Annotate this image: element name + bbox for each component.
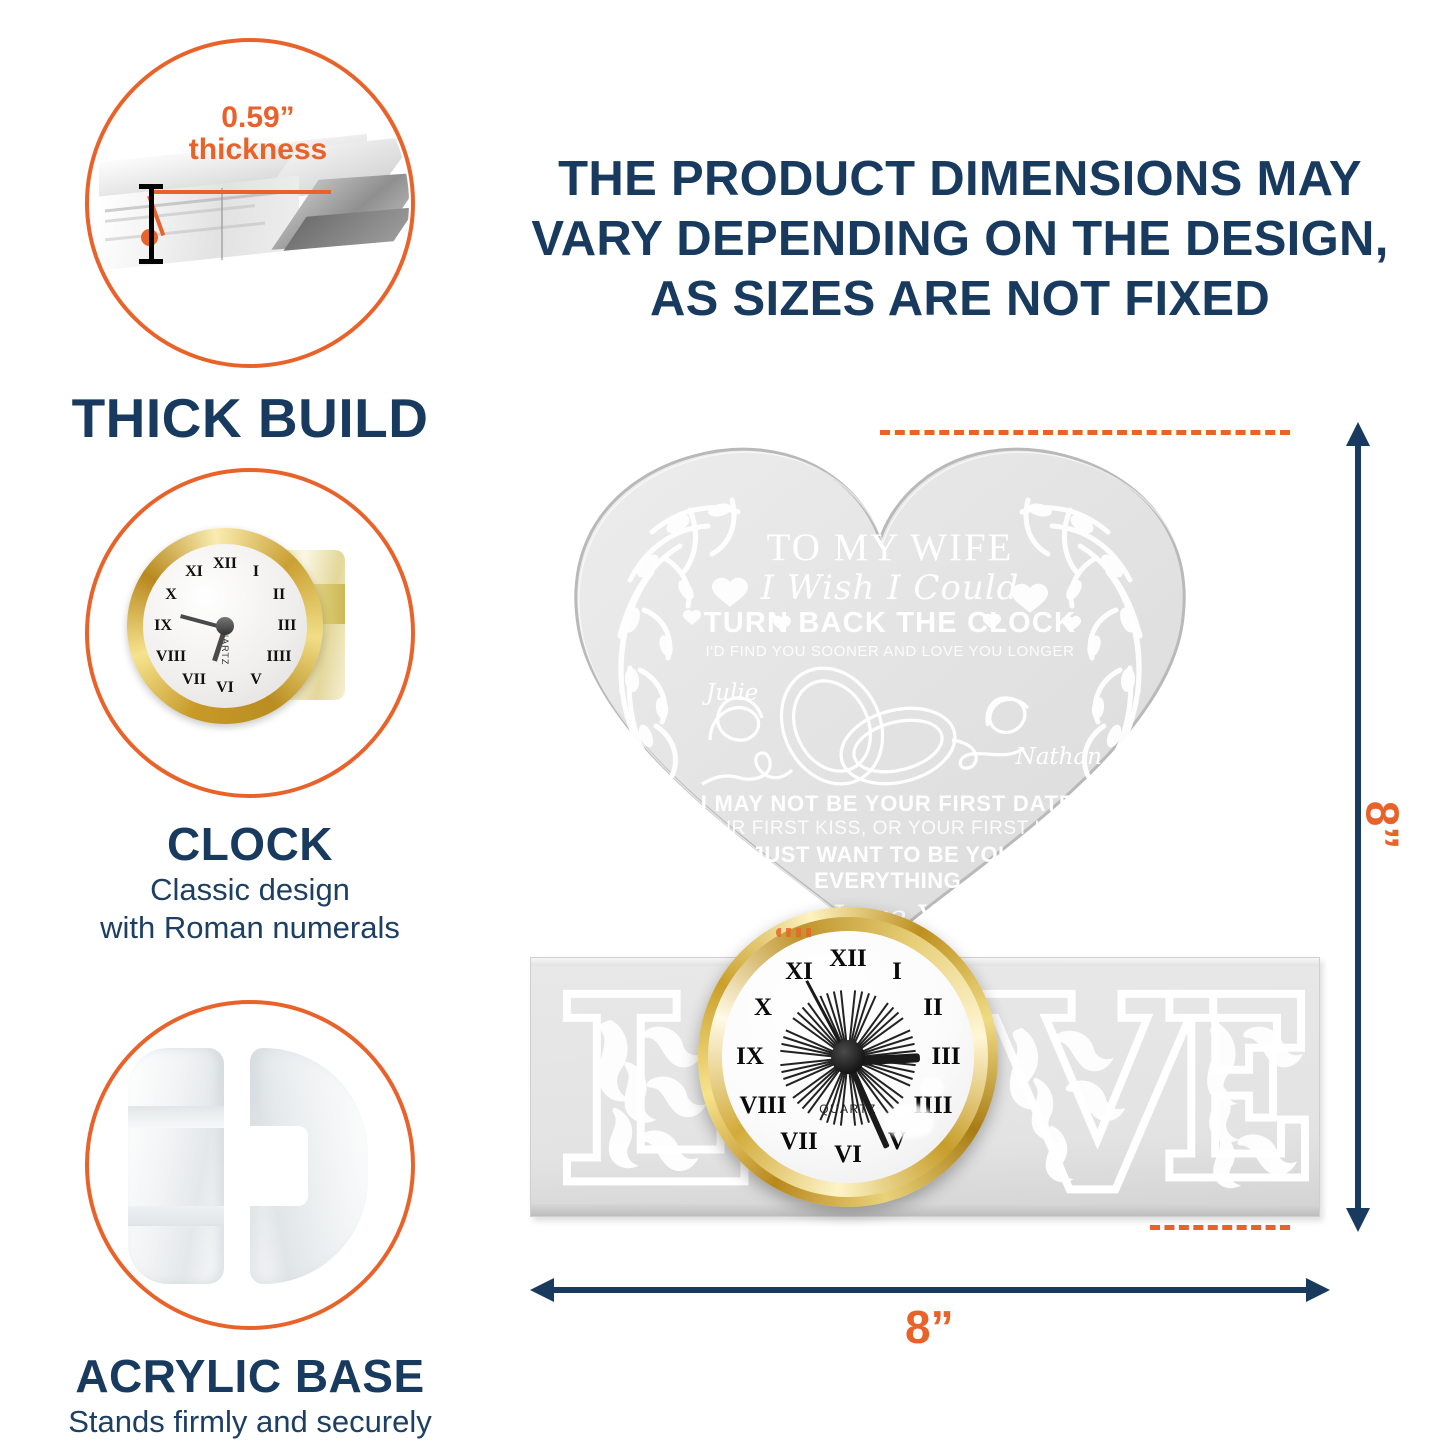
clock-numeral-vii: VII	[780, 1128, 818, 1156]
heart-body-line-1: I MAY NOT BE YOUR FIRST DATE,	[656, 792, 1126, 816]
thickness-callout: 0.59” thickness	[143, 102, 373, 167]
feature-sub-clock-line1: Classic design	[0, 871, 500, 909]
insert-numeral: II	[273, 586, 285, 604]
feature-title-clock: CLOCK	[0, 820, 500, 868]
heart-script-line: I Wish I Could	[680, 571, 1100, 607]
insert-numeral: VIII	[156, 648, 186, 666]
insert-numeral: VII	[182, 671, 206, 689]
page-title: THE PRODUCT DIMENSIONS MAY VARY DEPENDIN…	[520, 150, 1400, 329]
insert-numeral: IIII	[267, 648, 292, 666]
callout-leader-line	[151, 190, 331, 194]
product-illustration: TO MY WIFE I Wish I Could TURN BACK THE …	[520, 420, 1350, 1250]
insert-numeral: V	[250, 671, 262, 689]
insert-numeral: I	[253, 563, 259, 581]
heart-message-top: TO MY WIFE I Wish I Could TURN BACK THE …	[680, 528, 1100, 660]
clock-insert-bezel: XII I II III IIII V VI VII VIII IX X	[127, 528, 323, 724]
clock-glass-glare	[886, 1104, 934, 1138]
feature-title-thick-build: THICK BUILD	[0, 390, 500, 448]
feature-sidebar: 0.59” thickness THICK BUILD XII	[0, 0, 500, 1445]
thickness-measure-bar	[139, 184, 163, 264]
clock-circle: XII I II III IIII V VI VII VIII IX X	[85, 468, 415, 798]
clock-insert-photo: XII I II III IIII V VI VII VIII IX X	[105, 508, 395, 758]
circle-photo: XII I II III IIII V VI VII VIII IX X	[91, 474, 409, 792]
width-dimension-label: 8”	[905, 1300, 954, 1354]
feature-sub-clock-line2: with Roman numerals	[0, 909, 500, 947]
dimension-guide-top	[880, 430, 1290, 435]
feature-clock: XII I II III IIII V VI VII VIII IX X	[0, 468, 500, 947]
clock-numeral-i: I	[892, 958, 902, 986]
clock-numeral-ii: II	[923, 994, 942, 1022]
heart-title: TO MY WIFE	[680, 528, 1100, 567]
letter-E	[1169, 994, 1305, 1178]
height-dimension-label: 8”	[1355, 801, 1409, 850]
header-line-3: AS SIZES ARE NOT FIXED	[520, 270, 1400, 330]
insert-numeral: III	[278, 617, 297, 635]
slab-edge-line	[221, 188, 223, 260]
header-line-2: VARY DEPENDING ON THE DESIGN,	[520, 210, 1400, 270]
insert-numeral: X	[165, 586, 177, 604]
clock-numeral-xii: XII	[829, 945, 867, 973]
acrylic-base-circle	[85, 1000, 415, 1330]
feature-sub-acrylic-base: Stands firmly and securely	[0, 1403, 500, 1441]
measure-cap-bottom	[139, 259, 163, 264]
clock-bezel-speckle	[776, 928, 816, 937]
feature-thick-build: 0.59” thickness THICK BUILD	[0, 38, 500, 448]
insert-numeral: VI	[216, 679, 234, 697]
clock-center-hub	[831, 1040, 865, 1074]
clock-numeral-viii: VIII	[739, 1092, 786, 1120]
heart-body-line-2: YOUR FIRST KISS, OR YOUR FIRST LOVE,	[656, 818, 1126, 840]
infographic-canvas: 0.59” thickness THICK BUILD XII	[0, 0, 1445, 1445]
clock-insert-face: XII I II III IIII V VI VII VIII IX X	[143, 544, 307, 708]
product-clock: XII I II III IIII V VI VII VIII IX X XI	[698, 907, 998, 1207]
acrylic-stand-notch	[250, 1126, 308, 1206]
name-left: Julie	[706, 680, 758, 706]
circle-photo: 0.59” thickness	[91, 44, 409, 362]
dimension-guide-bottom	[1150, 1225, 1290, 1230]
thickness-value: 0.59”	[143, 102, 373, 134]
insert-numeral: XI	[185, 563, 203, 581]
clock-numeral-x: X	[754, 994, 772, 1022]
measure-stem	[149, 184, 154, 264]
feature-title-acrylic-base: ACRYLIC BASE	[0, 1352, 500, 1400]
acrylic-stand-photo	[100, 1030, 400, 1300]
insert-numeral: XII	[213, 555, 237, 573]
acrylic-stand-left	[128, 1048, 224, 1284]
personalized-names: Julie Nathan	[678, 680, 1108, 785]
circle-photo	[91, 1006, 409, 1324]
thickness-word: thickness	[143, 134, 373, 166]
header-line-1: THE PRODUCT DIMENSIONS MAY	[520, 150, 1400, 210]
insert-numeral: IX	[154, 617, 172, 635]
clock-face: XII I II III IIII V VI VII VIII IX X XI	[722, 931, 974, 1183]
heart-headline: TURN BACK THE CLOCK	[680, 609, 1100, 638]
feature-acrylic-base: ACRYLIC BASE Stands firmly and securely	[0, 1000, 500, 1441]
clock-glass-glare-small	[920, 1077, 944, 1097]
acrylic-slab-photo: 0.59” thickness	[91, 44, 409, 362]
heart-plaque: TO MY WIFE I Wish I Could TURN BACK THE …	[560, 440, 1200, 960]
heart-body-line-3: BUT I JUST WANT TO BE YOUR LAST EVERYTHI…	[656, 842, 1126, 894]
insert-hub	[216, 617, 234, 635]
clock-numeral-vi: VI	[834, 1141, 862, 1169]
thick-build-circle: 0.59” thickness	[85, 38, 415, 368]
name-right: Nathan	[1016, 744, 1102, 770]
clock-numeral-ix: IX	[736, 1043, 764, 1071]
clock-numeral-iii: III	[931, 1043, 960, 1071]
heart-subline: I'D FIND YOU SOONER AND LOVE YOU LONGER	[680, 643, 1100, 660]
